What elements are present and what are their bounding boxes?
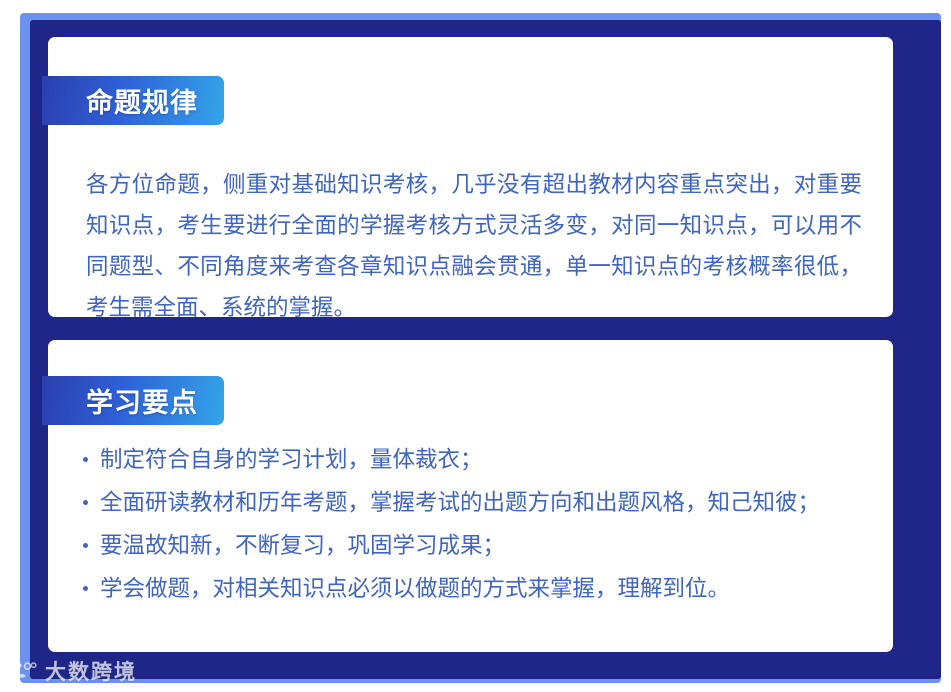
bullet-dot-icon — [83, 500, 88, 505]
section-badge-label: 学习要点 — [86, 381, 198, 420]
poster-canvas: 命题规律 各方位命题，侧重对基础知识考核，几乎没有超出教材内容重点突出，对重要知… — [0, 0, 951, 692]
list-item-label: 全面研读教材和历年考题，掌握考试的出题方向和出题风格，知己知彼； — [100, 490, 820, 515]
list-item: 制定符合自身的学习计划，量体裁衣； — [82, 441, 872, 478]
list-item: 学会做题，对相关知识点必须以做题的方式来掌握，理解到位。 — [82, 570, 872, 607]
list-item: 全面研读教材和历年考题，掌握考试的出题方向和出题风格，知己知彼； — [82, 484, 872, 521]
study-points-list: 制定符合自身的学习计划，量体裁衣； 全面研读教材和历年考题，掌握考试的出题方向和… — [82, 441, 872, 613]
list-item-label: 制定符合自身的学习计划，量体裁衣； — [100, 447, 483, 472]
section-badge-study-points: 学习要点 — [42, 376, 224, 425]
section-badge-exam-pattern: 命题规律 — [42, 76, 224, 125]
list-item: 要温故知新，不断复习，巩固学习成果； — [82, 527, 872, 564]
bullet-dot-icon — [83, 457, 88, 462]
list-item-label: 学会做题，对相关知识点必须以做题的方式来掌握，理解到位。 — [100, 576, 730, 601]
list-item-label: 要温故知新，不断复习，巩固学习成果； — [100, 533, 505, 558]
bullet-dot-icon — [83, 543, 88, 548]
section-badge-label: 命题规律 — [86, 81, 198, 120]
bullet-dot-icon — [83, 586, 88, 591]
exam-pattern-paragraph: 各方位命题，侧重对基础知识考核，几乎没有超出教材内容重点突出，对重要知识点，考生… — [86, 164, 862, 328]
